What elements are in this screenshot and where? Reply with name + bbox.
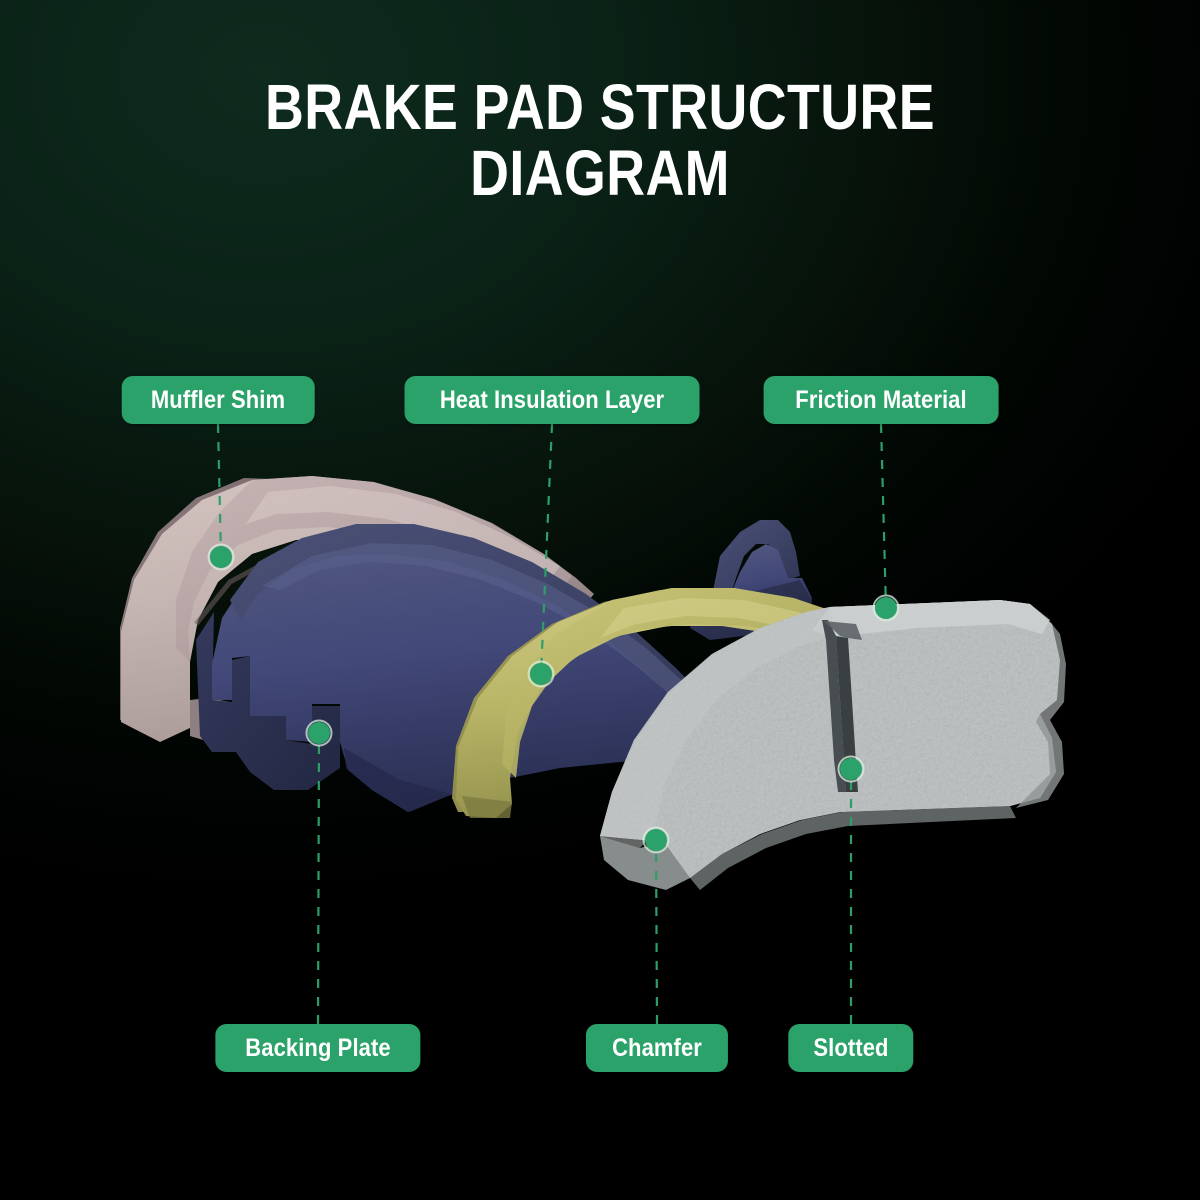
leader-dot-chamfer[interactable] — [645, 829, 667, 851]
leader-line-muffler-shim — [218, 424, 221, 557]
leader-dot-slotted[interactable] — [840, 758, 862, 780]
label-text-slotted: Slotted — [813, 1024, 888, 1072]
leader-dot-heat-insulation-layer[interactable] — [530, 663, 552, 685]
label-text-chamfer: Chamfer — [612, 1024, 702, 1072]
diagram-canvas: BRAKE PAD STRUCTURE DIAGRAM — [0, 0, 1200, 1200]
title-line-2: DIAGRAM — [96, 140, 1104, 206]
label-pill-heat-insulation-layer[interactable]: Heat Insulation Layer — [405, 376, 700, 424]
label-pill-friction-material[interactable]: Friction Material — [764, 376, 999, 424]
leader-line-backing-plate — [318, 733, 319, 1024]
page-title: BRAKE PAD STRUCTURE DIAGRAM — [0, 74, 1200, 206]
title-line-1: BRAKE PAD STRUCTURE — [96, 74, 1104, 140]
leader-dot-backing-plate[interactable] — [308, 722, 330, 744]
label-pill-chamfer[interactable]: Chamfer — [586, 1024, 728, 1072]
label-pill-slotted[interactable]: Slotted — [788, 1024, 913, 1072]
leader-line-heat-insulation-layer — [541, 424, 552, 674]
label-pill-muffler-shim[interactable]: Muffler Shim — [122, 376, 315, 424]
leader-line-friction-material — [881, 424, 886, 608]
label-text-heat-insulation-layer: Heat Insulation Layer — [440, 376, 664, 424]
leader-dot-muffler-shim[interactable] — [210, 546, 232, 568]
label-text-friction-material: Friction Material — [795, 376, 966, 424]
label-text-backing-plate: Backing Plate — [245, 1024, 390, 1072]
leader-dot-friction-material[interactable] — [875, 597, 897, 619]
label-pill-backing-plate[interactable]: Backing Plate — [215, 1024, 420, 1072]
leader-line-chamfer — [656, 840, 657, 1024]
label-text-muffler-shim: Muffler Shim — [151, 376, 285, 424]
